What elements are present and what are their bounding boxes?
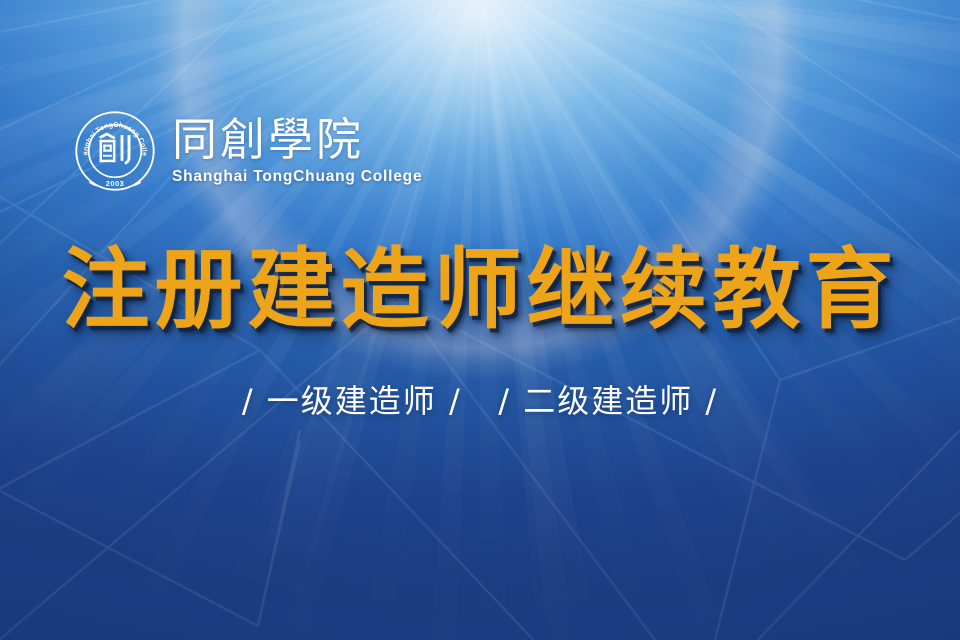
brand-wordmark: 同創學院 Shanghai TongChuang College (172, 115, 422, 186)
brand-logo-lockup[interactable]: Shanghai TongChuang College (72, 108, 422, 194)
promo-banner: Shanghai TongChuang College (0, 0, 960, 640)
brand-name-en: Shanghai TongChuang College (172, 168, 422, 187)
college-seal-icon: Shanghai TongChuang College (72, 108, 158, 194)
banner-headline: 注册建造师继续教育 (0, 246, 960, 334)
svg-text:2003: 2003 (106, 179, 124, 188)
brand-name-cn: 同創學院 (172, 117, 422, 165)
banner-subtitle: / 一级建造师 / / 二级建造师 / (0, 381, 960, 423)
